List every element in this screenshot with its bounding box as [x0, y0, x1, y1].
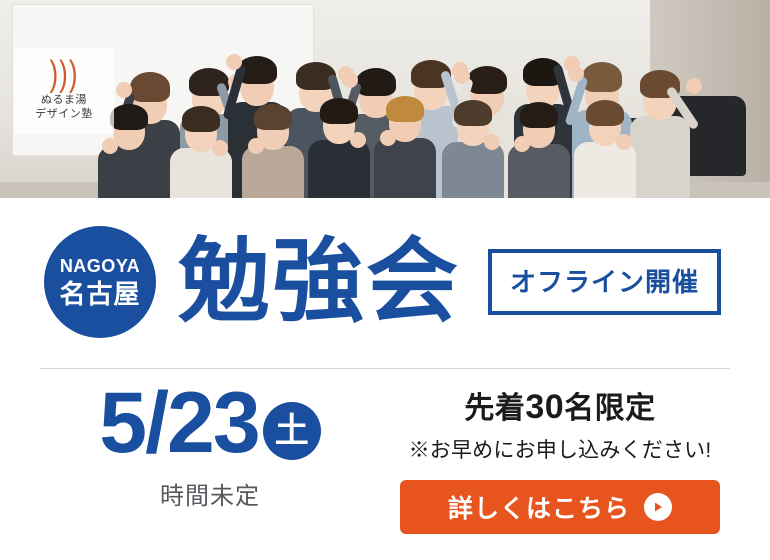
- capacity-number: 30: [525, 388, 564, 426]
- headline-row: NAGOYA 名古屋 勉強会 オフライン開催: [0, 198, 770, 366]
- event-info-block: 先着30名限定 ※お早めにお申し込みください! 詳しくはこちら: [380, 390, 740, 534]
- group-photo: ))) ぬるま湯 デザイン塾: [0, 0, 770, 198]
- photo-person: [572, 104, 638, 198]
- details-button[interactable]: 詳しくはこちら: [400, 480, 720, 534]
- photo-person: [372, 96, 438, 198]
- city-badge: NAGOYA 名古屋: [44, 226, 156, 338]
- capacity-note: ※お早めにお申し込みください!: [380, 434, 740, 464]
- event-details-row: 5/23 土 時間未定 先着30名限定 ※お早めにお申し込みください! 詳しくは…: [0, 376, 770, 560]
- brand-logo-badge: ))) ぬるま湯 デザイン塾: [14, 48, 114, 134]
- capacity-limit: 先着30名限定: [380, 390, 740, 424]
- logo-line-2: デザイン塾: [35, 108, 93, 122]
- photo-person: [440, 102, 506, 198]
- format-tag: オフライン開催: [488, 249, 721, 315]
- event-day-of-week: 土: [263, 402, 321, 460]
- event-time-note: 時間未定: [40, 476, 380, 511]
- capacity-suffix: 名限定: [564, 392, 656, 425]
- capacity-prefix: 先着: [464, 392, 525, 425]
- section-divider: [40, 368, 730, 369]
- play-arrow-icon: [644, 493, 672, 521]
- event-date-block: 5/23 土 時間未定: [40, 380, 380, 511]
- onsen-steam-icon: ))): [50, 55, 79, 91]
- city-badge-en: NAGOYA: [60, 257, 140, 275]
- photo-person: [168, 112, 234, 198]
- page-title: 勉強会: [178, 236, 460, 328]
- photo-person: [240, 110, 306, 198]
- logo-line-1: ぬるま湯: [35, 94, 93, 108]
- city-badge-jp: 名古屋: [59, 281, 140, 307]
- event-date: 5/23: [99, 380, 258, 466]
- event-banner: ))) ぬるま湯 デザイン塾 NAGOYA 名古屋 勉強会 オフライン開催 5/…: [0, 0, 770, 560]
- photo-person: [306, 100, 372, 198]
- photo-person: [506, 106, 572, 198]
- details-button-label: 詳しくはこちら: [448, 489, 630, 525]
